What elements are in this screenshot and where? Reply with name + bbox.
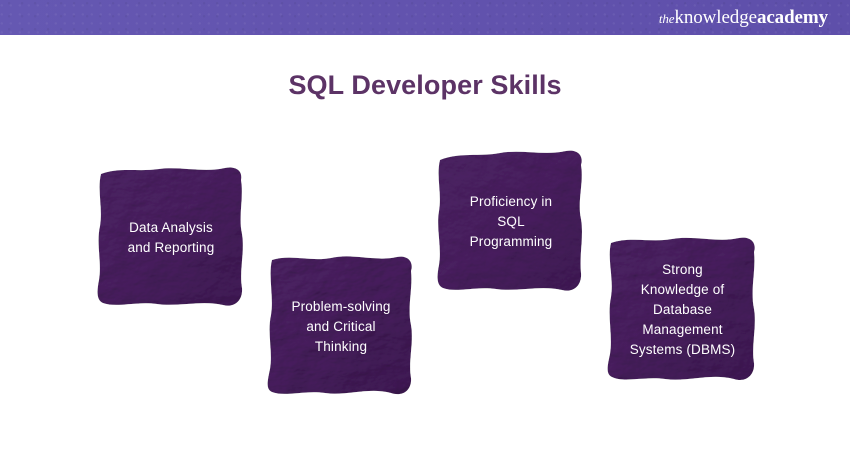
skill-card-proficiency-in-sql-programming[interactable]: Proficiency in SQL Programming: [435, 148, 587, 296]
skill-card-label: Proficiency in SQL Programming: [435, 192, 587, 252]
skill-card-label: Data Analysis and Reporting: [95, 218, 247, 258]
skill-card-problem-solving-and-critical-thinking[interactable]: Problem-solving and Critical Thinking: [265, 252, 417, 400]
skill-card-label: Strong Knowledge of Database Management …: [605, 260, 760, 360]
skill-card-strong-knowledge-of-dbms[interactable]: Strong Knowledge of Database Management …: [605, 234, 760, 386]
skill-card-data-analysis-and-reporting[interactable]: Data Analysis and Reporting: [95, 164, 247, 312]
skill-card-label: Problem-solving and Critical Thinking: [265, 297, 417, 357]
skills-card-group: Data Analysis and Reporting Problem-solv…: [0, 0, 850, 450]
